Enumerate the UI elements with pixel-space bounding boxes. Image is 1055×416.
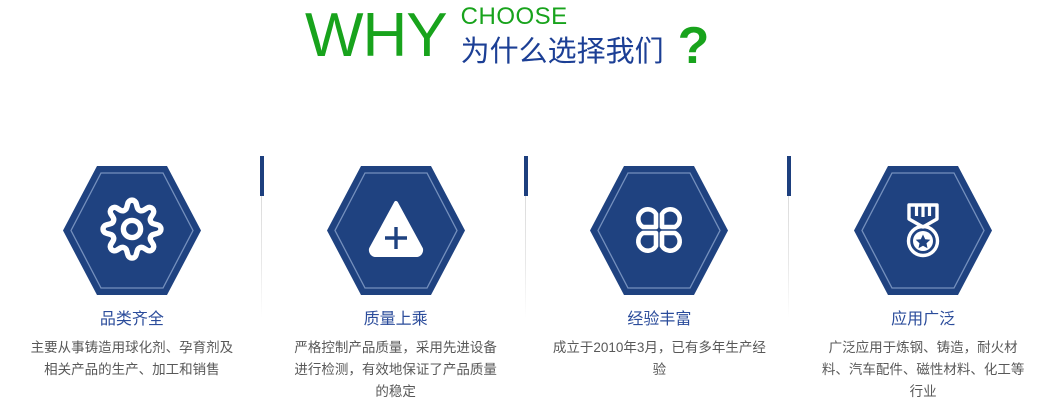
headline-stack: CHOOSE 为什么选择我们 (461, 4, 664, 69)
section-header: WHY CHOOSE 为什么选择我们 ? (0, 0, 1055, 95)
feature-cards-row: 品类齐全 主要从事铸造用球化剂、孕育剂及相关产品的生产、加工和销售 质量上乘 严… (0, 150, 1055, 416)
gear-icon (62, 165, 202, 296)
card-body: 成立于2010年3月，已有多年生产经验 (552, 337, 767, 381)
headline-choose: CHOOSE (461, 4, 664, 30)
header-title-group: WHY CHOOSE 为什么选择我们 ? (305, 0, 709, 74)
card-title: 质量上乘 (364, 310, 428, 330)
feature-card[interactable]: 品类齐全 主要从事铸造用球化剂、孕育剂及相关产品的生产、加工和销售 (0, 150, 264, 416)
card-title: 应用广泛 (891, 310, 955, 330)
divider-bottom-segment (261, 196, 262, 318)
headline-chinese: 为什么选择我们 (461, 35, 664, 69)
divider-bottom-segment (788, 196, 789, 318)
card-title: 品类齐全 (100, 310, 164, 330)
hexagon-badge (326, 165, 466, 296)
hexagon-badge (853, 165, 993, 296)
question-mark-icon: ? (678, 18, 710, 74)
hexagon-badge (589, 165, 729, 296)
card-title: 经验丰富 (627, 310, 691, 330)
card-body: 严格控制产品质量，采用先进设备进行检测，有效地保证了产品质量的稳定 (288, 337, 503, 403)
feature-card[interactable]: 应用广泛 广泛应用于炼钢、铸造，耐火材料、汽车配件、磁性材料、化工等行业 (791, 150, 1055, 416)
triangle-plus-icon (326, 165, 466, 296)
medal-icon (853, 165, 993, 296)
headline-why: WHY (305, 2, 447, 70)
hexagon-badge (62, 165, 202, 296)
divider-bottom-segment (525, 196, 526, 318)
card-body: 广泛应用于炼钢、铸造，耐火材料、汽车配件、磁性材料、化工等行业 (816, 337, 1031, 403)
feature-card[interactable]: 经验丰富 成立于2010年3月，已有多年生产经验 (528, 150, 792, 416)
card-body: 主要从事铸造用球化剂、孕育剂及相关产品的生产、加工和销售 (24, 337, 239, 381)
four-petal-clover-icon (589, 165, 729, 296)
feature-card[interactable]: 质量上乘 严格控制产品质量，采用先进设备进行检测，有效地保证了产品质量的稳定 (264, 150, 528, 416)
